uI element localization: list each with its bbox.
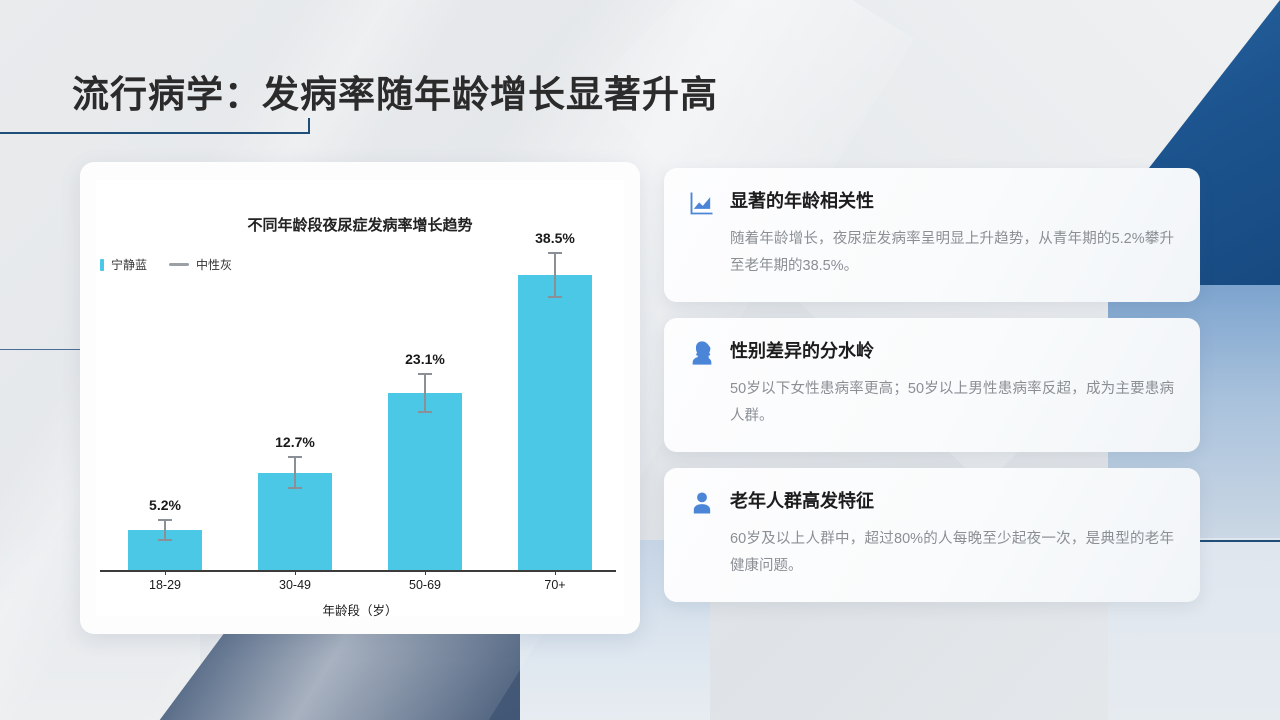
insight-card-1-header: 显著的年龄相关性: [688, 188, 1174, 217]
chart-error-bar: [288, 456, 302, 490]
chart-error-bar: [158, 519, 172, 540]
chart-card: 不同年龄段夜尿症发病率增长趋势 宁静蓝 中性灰 5.2%18-2912.7%30…: [80, 162, 640, 634]
chart-canvas: 不同年龄段夜尿症发病率增长趋势 宁静蓝 中性灰 5.2%18-2912.7%30…: [96, 180, 624, 616]
title-accent-rule-cap: [308, 118, 310, 134]
chart-x-tick-label: 18-29: [105, 578, 225, 592]
chart-value-label: 38.5%: [495, 230, 615, 246]
page-title: 流行病学：发病率随年龄增长显著升高: [72, 64, 718, 118]
insight-card-3-header: 老年人群高发特征: [688, 488, 1174, 517]
insight-card-2[interactable]: 性别差异的分水岭 50岁以下女性患病率更高；50岁以上男性患病率反超，成为主要患…: [664, 318, 1200, 452]
chart-x-axis: [100, 570, 616, 572]
area-chart-icon: [688, 189, 716, 217]
chart-error-bar: [548, 252, 562, 298]
chart-x-tick: [425, 570, 426, 575]
insight-card-1-body: 随着年龄增长，夜尿症发病率呈明显上升趋势，从青年期的5.2%攀升至老年期的38.…: [730, 226, 1174, 280]
chart-x-axis-title: 年龄段（岁）: [96, 600, 624, 619]
chart-error-bar: [418, 373, 432, 413]
chart-x-tick-label: 30-49: [235, 578, 355, 592]
insight-card-3-body: 60岁及以上人群中，超过80%的人每晚至少起夜一次，是典型的老年健康问题。: [730, 526, 1174, 580]
female-user-icon: [688, 339, 716, 367]
insight-card-3-title: 老年人群高发特征: [730, 488, 874, 514]
chart-bar: [518, 275, 592, 570]
insight-card-1[interactable]: 显著的年龄相关性 随着年龄增长，夜尿症发病率呈明显上升趋势，从青年期的5.2%攀…: [664, 168, 1200, 302]
chart-x-tick-label: 70+: [495, 578, 615, 592]
chart-value-label: 12.7%: [235, 434, 355, 450]
person-icon: [688, 489, 716, 517]
insight-card-2-body: 50岁以下女性患病率更高；50岁以上男性患病率反超，成为主要患病人群。: [730, 376, 1174, 430]
chart-value-label: 5.2%: [105, 497, 225, 513]
chart-x-tick: [555, 570, 556, 575]
insight-card-1-title: 显著的年龄相关性: [730, 188, 874, 214]
chart-plot-area: 5.2%18-2912.7%30-4923.1%50-6938.5%70+: [96, 180, 624, 616]
insight-card-2-title: 性别差异的分水岭: [730, 338, 874, 364]
chart-value-label: 23.1%: [365, 351, 485, 367]
title-accent-rule: [0, 132, 310, 134]
chart-x-tick-label: 50-69: [365, 578, 485, 592]
insight-card-2-header: 性别差异的分水岭: [688, 338, 1174, 367]
insight-card-3[interactable]: 老年人群高发特征 60岁及以上人群中，超过80%的人每晚至少起夜一次，是典型的老…: [664, 468, 1200, 602]
chart-x-tick: [165, 570, 166, 575]
chart-bar: [388, 393, 462, 570]
chart-x-tick: [295, 570, 296, 575]
